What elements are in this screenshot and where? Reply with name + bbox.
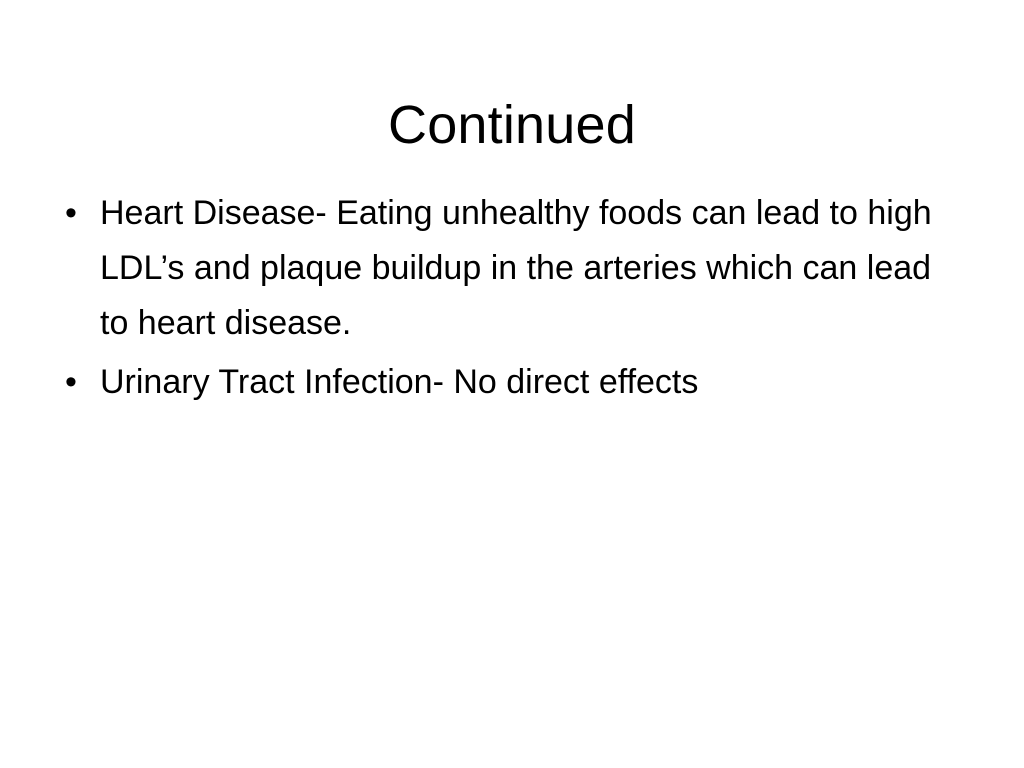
bullet-point-icon: •	[65, 186, 85, 241]
list-item: • Heart Disease- Eating unhealthy foods …	[60, 186, 960, 351]
bullet-text-heart-disease: Heart Disease- Eating unhealthy foods ca…	[100, 186, 960, 351]
empty-slide-area	[0, 430, 1024, 768]
bullet-point-icon: •	[65, 355, 85, 410]
bullet-text-urinary-tract-infection: Urinary Tract Infection- No direct effec…	[100, 355, 960, 410]
page-title: Continued	[0, 94, 1024, 156]
list-item: • Urinary Tract Infection- No direct eff…	[60, 355, 960, 410]
presentation-slide: Continued • Heart Disease- Eating unheal…	[0, 0, 1024, 768]
slide-body-content: • Heart Disease- Eating unhealthy foods …	[60, 186, 960, 410]
